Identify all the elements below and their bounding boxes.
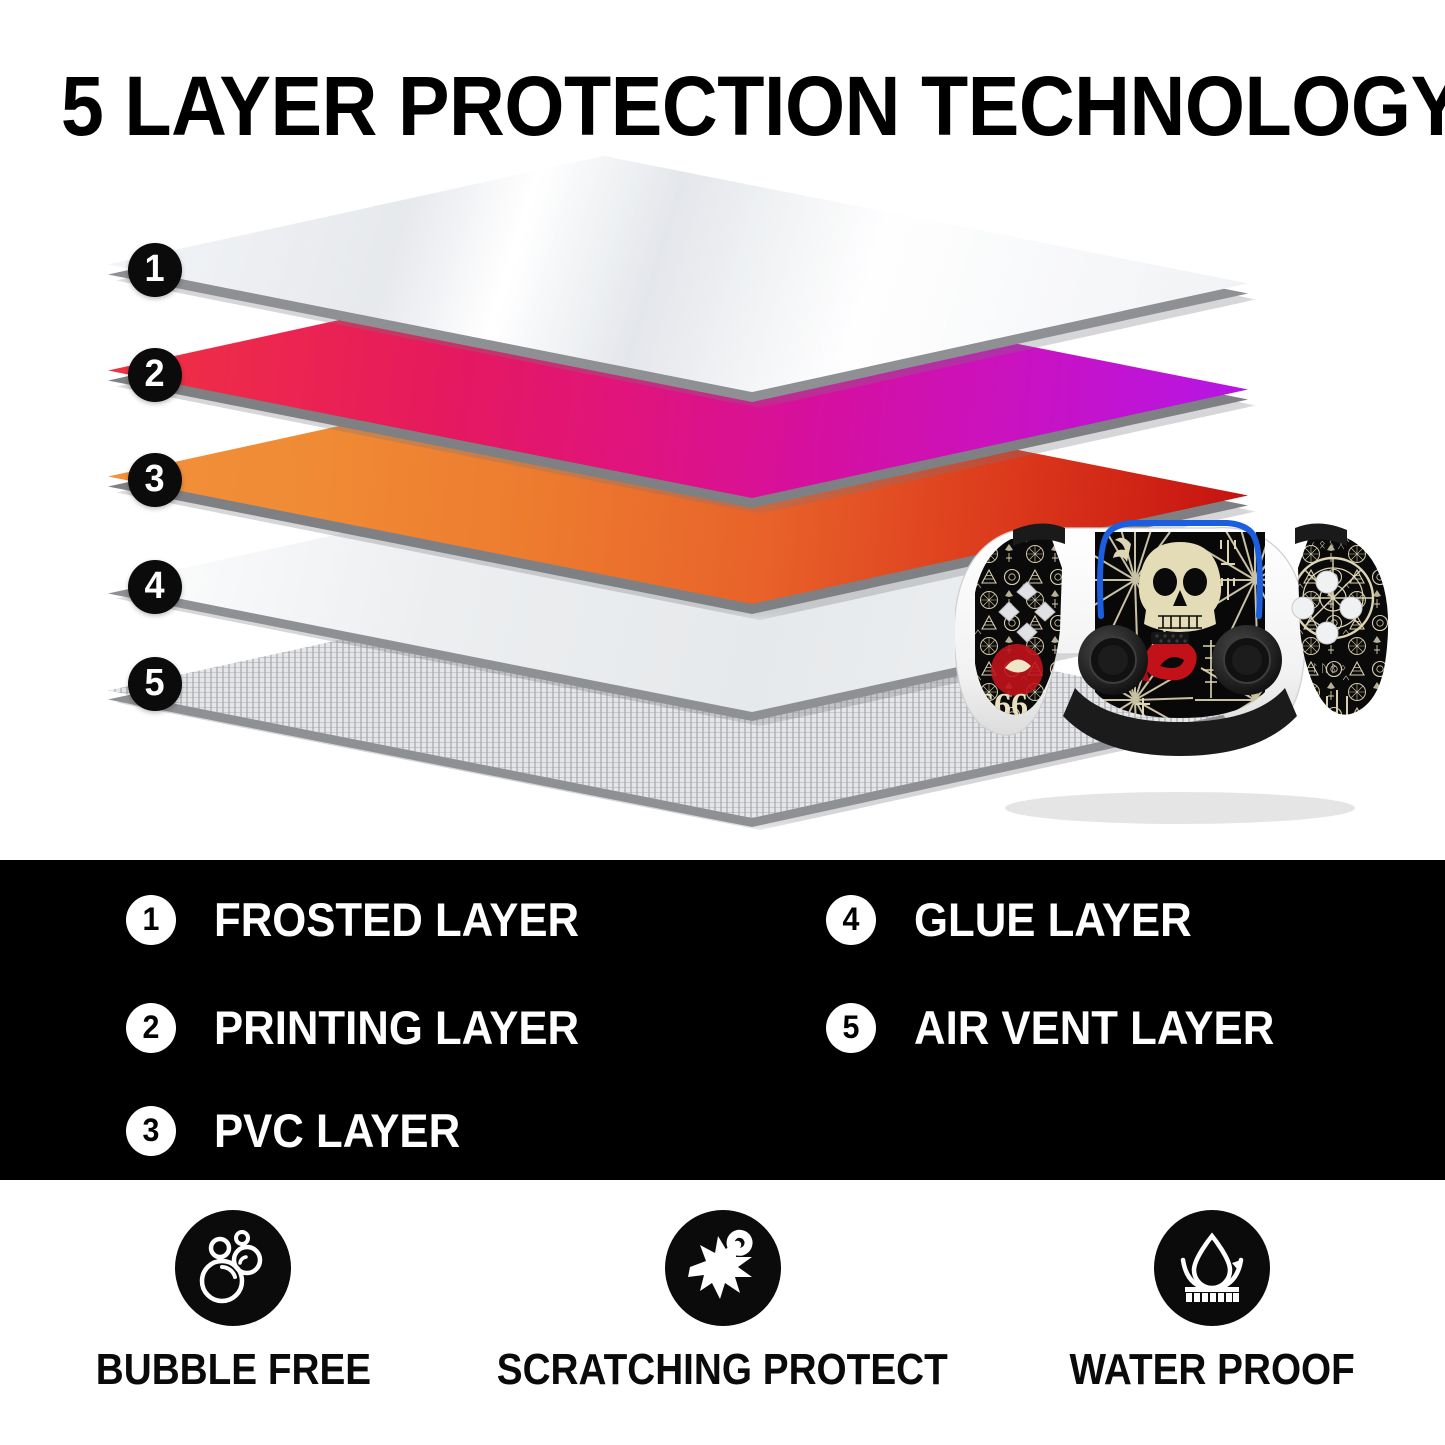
water-droplet-icon bbox=[1154, 1210, 1270, 1326]
product-controller-image: 666 ᚦ ᛉ ᚲ ᛟ ᛊ ᚷ ᛏ ᚨ ᛚ ᚢ ᛒ ᛜ bbox=[955, 520, 1405, 840]
diagram-badge-5-number: 5 bbox=[145, 664, 165, 702]
diagram-badge-2-number: 2 bbox=[145, 355, 165, 393]
legend-number-2-text: 2 bbox=[143, 1011, 160, 1043]
legend-number-2: 2 bbox=[126, 1003, 176, 1053]
bubbles-icon bbox=[175, 1210, 291, 1326]
legend-label-printing-layer: PRINTING LAYER bbox=[214, 1000, 579, 1055]
bubbles-icon-glyph bbox=[192, 1227, 274, 1309]
layer-diagram: 1 2 3 4 5 bbox=[0, 170, 1445, 860]
diagram-badge-1: 1 bbox=[128, 243, 182, 297]
diagram-badge-3: 3 bbox=[128, 453, 182, 507]
feature-badges: BUBBLE FREE SCRATCHING PROTECT bbox=[0, 1180, 1445, 1445]
legend-panel: 1 FROSTED LAYER 2 PRINTING LAYER 3 PVC L… bbox=[0, 860, 1445, 1180]
feature-bubble-free: BUBBLE FREE bbox=[0, 1180, 466, 1445]
legend-number-5: 5 bbox=[826, 1003, 876, 1053]
legend-label-frosted-layer: FROSTED LAYER bbox=[214, 892, 579, 947]
feature-water-proof: WATER PROOF bbox=[979, 1180, 1445, 1445]
left-analog-stick[interactable] bbox=[1078, 625, 1148, 695]
legend-item-glue-layer: 4 GLUE LAYER bbox=[826, 892, 1213, 947]
legend-label-air-vent-layer: AIR VENT LAYER bbox=[914, 1000, 1274, 1055]
key-scratch-icon bbox=[665, 1210, 781, 1326]
water-droplet-icon-glyph bbox=[1171, 1227, 1253, 1309]
feature-scratching-protect: SCRATCHING PROTECT bbox=[466, 1180, 979, 1445]
diagram-badge-4-number: 4 bbox=[145, 567, 165, 605]
key-scratch-icon-glyph bbox=[682, 1227, 764, 1309]
diagram-badge-1-number: 1 bbox=[145, 250, 165, 288]
feature-label-water-proof: WATER PROOF bbox=[1069, 1348, 1354, 1392]
legend-number-1-text: 1 bbox=[143, 903, 160, 935]
skull-graphic bbox=[1139, 542, 1221, 632]
speaker-grille bbox=[1151, 632, 1189, 644]
droplet-shape bbox=[1194, 1236, 1230, 1288]
legend-item-pvc-layer: 3 PVC LAYER bbox=[126, 1103, 479, 1158]
legend-number-3-text: 3 bbox=[143, 1114, 160, 1146]
diagram-badge-5: 5 bbox=[128, 657, 182, 711]
diagram-badge-3-number: 3 bbox=[145, 460, 165, 498]
diagram-badge-2: 2 bbox=[128, 348, 182, 402]
legend-item-frosted-layer: 1 FROSTED LAYER bbox=[126, 892, 607, 947]
feature-label-bubble-free: BUBBLE FREE bbox=[95, 1348, 370, 1392]
legend-number-1: 1 bbox=[126, 895, 176, 945]
legend-number-4-text: 4 bbox=[843, 903, 860, 935]
legend-number-4: 4 bbox=[826, 895, 876, 945]
feature-label-scratching-protect: SCRATCHING PROTECT bbox=[497, 1348, 948, 1392]
legend-label-glue-layer: GLUE LAYER bbox=[914, 892, 1192, 947]
legend-number-5-text: 5 bbox=[843, 1011, 860, 1043]
controller-shadow bbox=[1005, 792, 1355, 824]
diagram-badge-column: 1 2 3 4 5 bbox=[0, 170, 200, 860]
legend-number-3: 3 bbox=[126, 1106, 176, 1156]
legend-label-pvc-layer: PVC LAYER bbox=[214, 1103, 460, 1158]
legend-item-air-vent-layer: 5 AIR VENT LAYER bbox=[826, 1000, 1301, 1055]
right-analog-stick[interactable] bbox=[1212, 625, 1282, 695]
diagram-badge-4: 4 bbox=[128, 560, 182, 614]
page-title: 5 LAYER PROTECTION TECHNOLOGY bbox=[61, 64, 1445, 148]
page-title-container: 5 LAYER PROTECTION TECHNOLOGY bbox=[0, 64, 1445, 148]
legend-item-printing-layer: 2 PRINTING LAYER bbox=[126, 1000, 607, 1055]
